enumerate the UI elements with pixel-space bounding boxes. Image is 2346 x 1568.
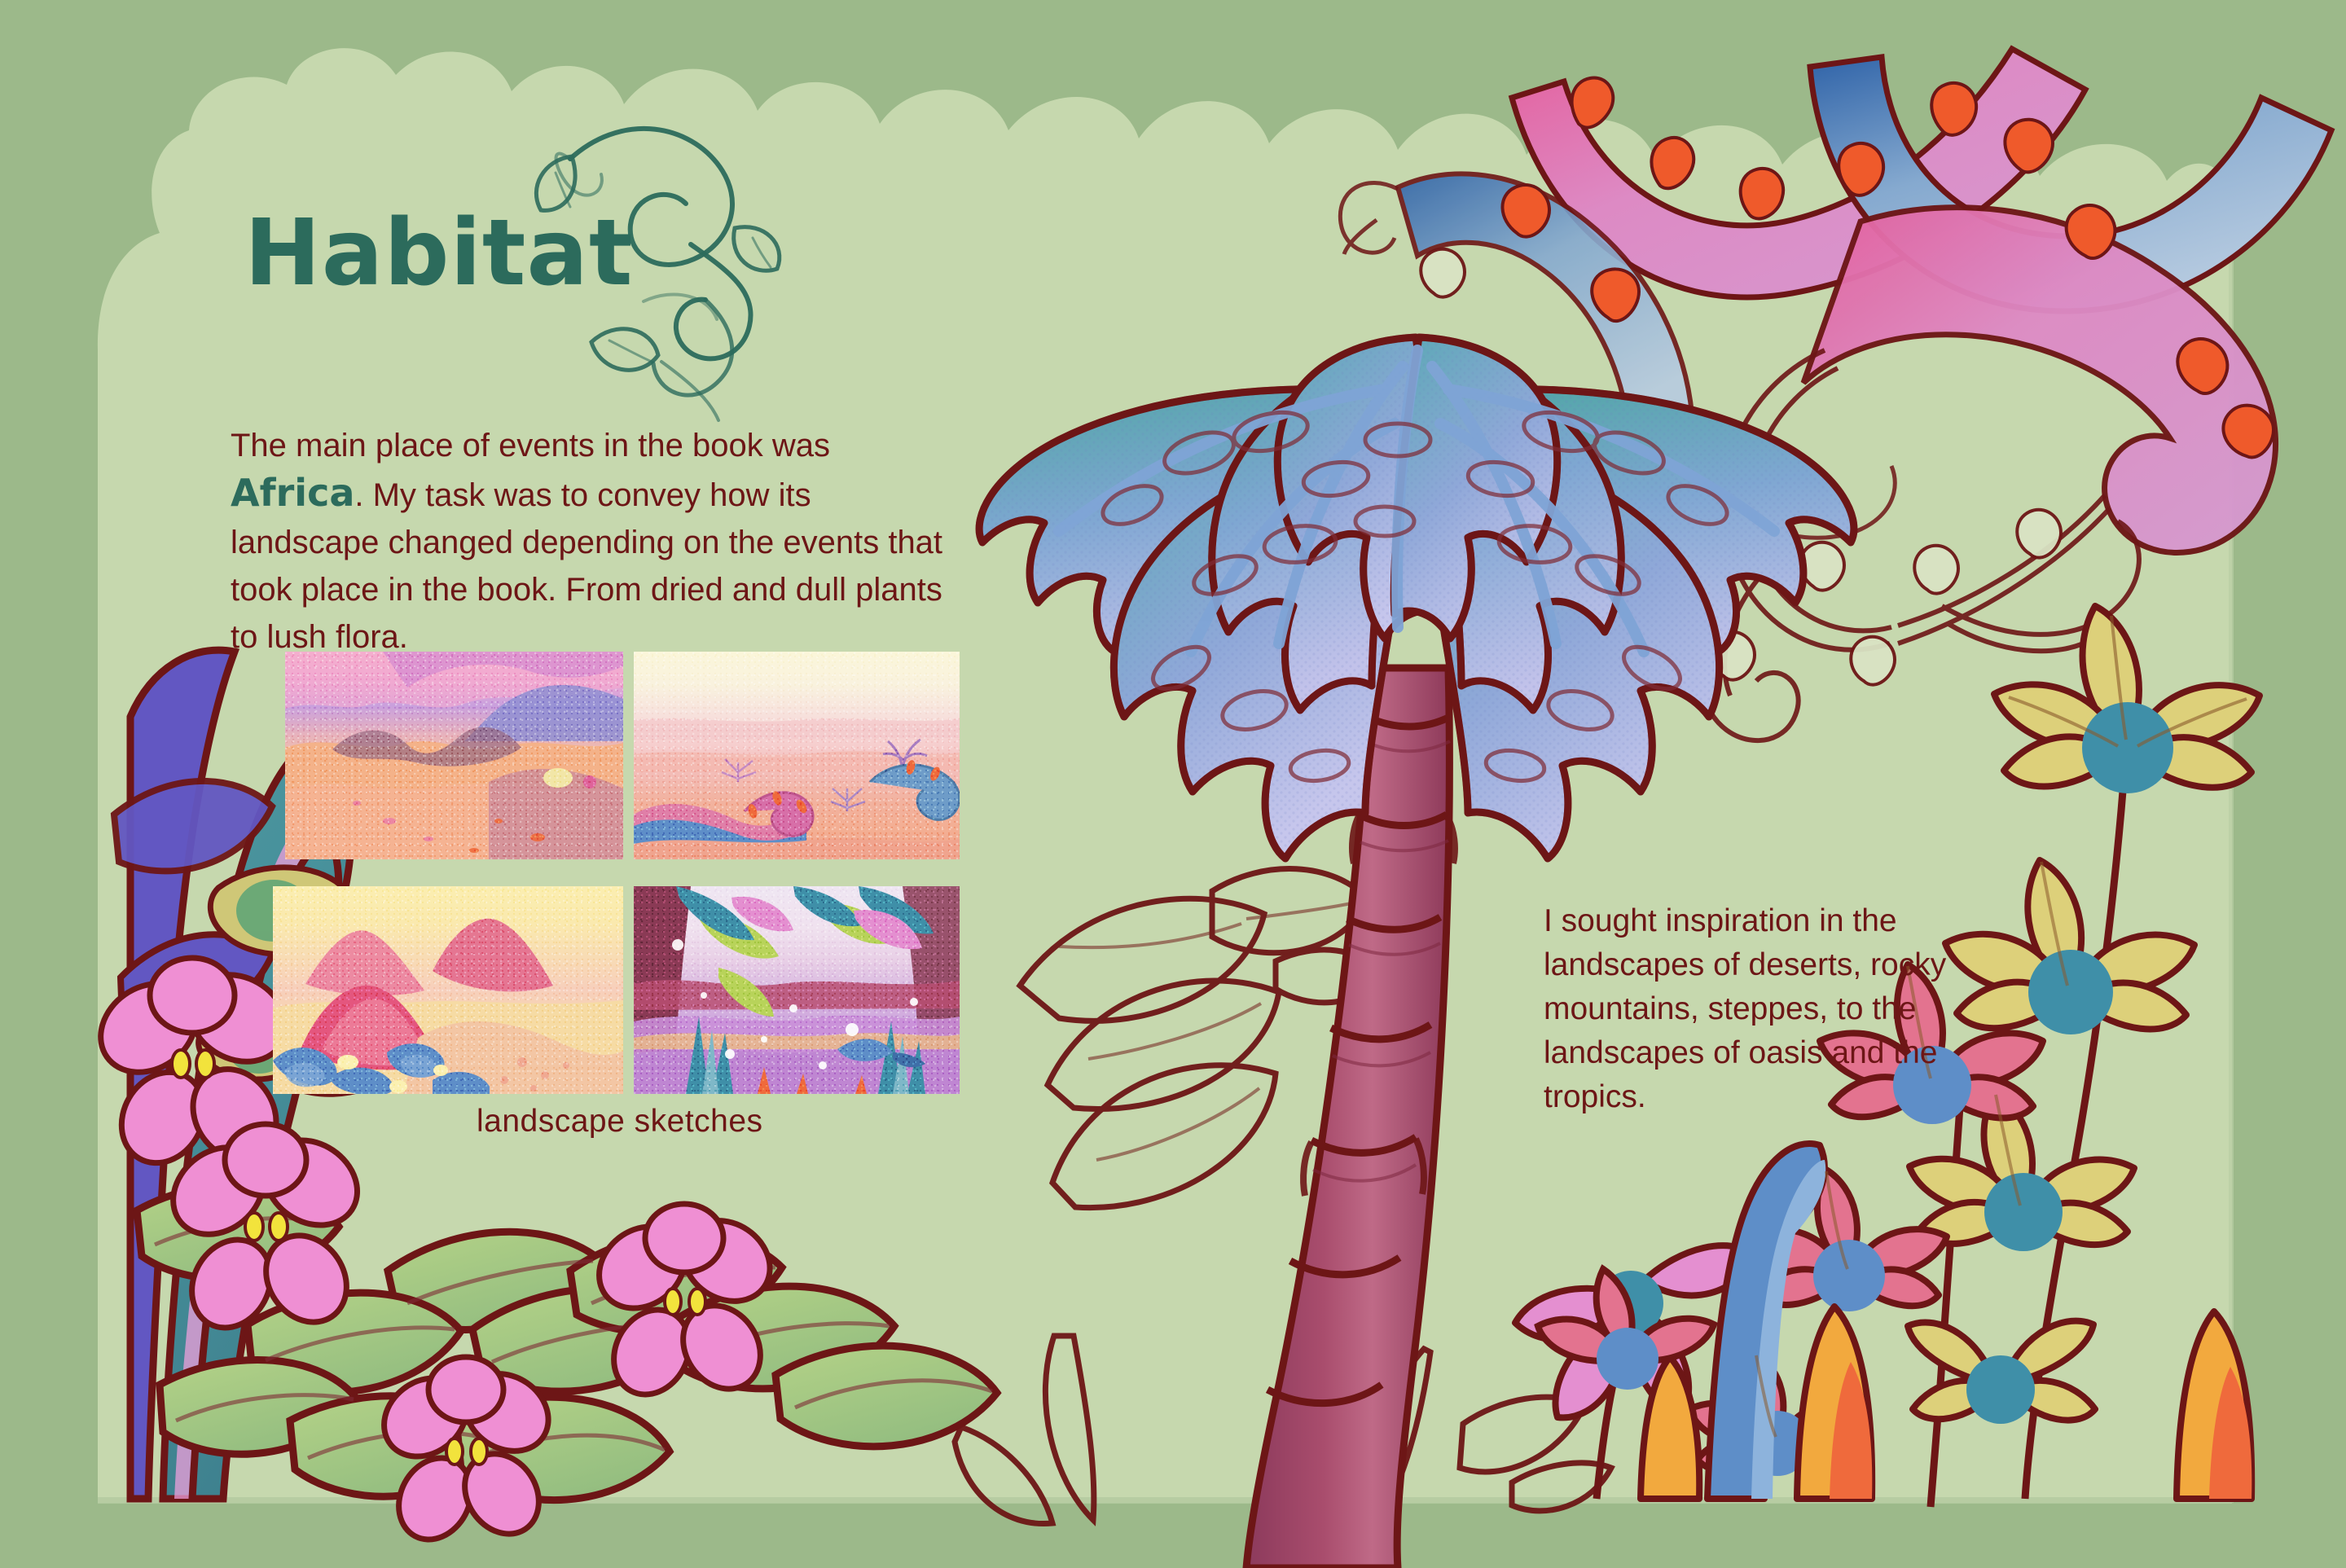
intro-paragraph: The main place of events in the book was…	[231, 422, 968, 661]
sketch-thumbnail-oasis[interactable]	[634, 886, 960, 1094]
sketch-thumbnail-steppe[interactable]	[634, 652, 960, 859]
sketch-thumbnail-mountains[interactable]	[273, 886, 623, 1094]
inspiration-paragraph: I sought inspiration in the landscapes o…	[1544, 899, 1988, 1119]
intro-period: .	[354, 477, 363, 513]
page-title: Habitat	[244, 208, 634, 299]
accent-word-africa: Africa	[231, 471, 354, 515]
sketch-thumbnail-desert[interactable]	[285, 652, 623, 859]
intro-lead: The main place of events in the book was	[231, 428, 830, 463]
page-root: Habitat The main place of events in the …	[0, 0, 2346, 1568]
sketches-caption: landscape sketches	[477, 1104, 763, 1140]
